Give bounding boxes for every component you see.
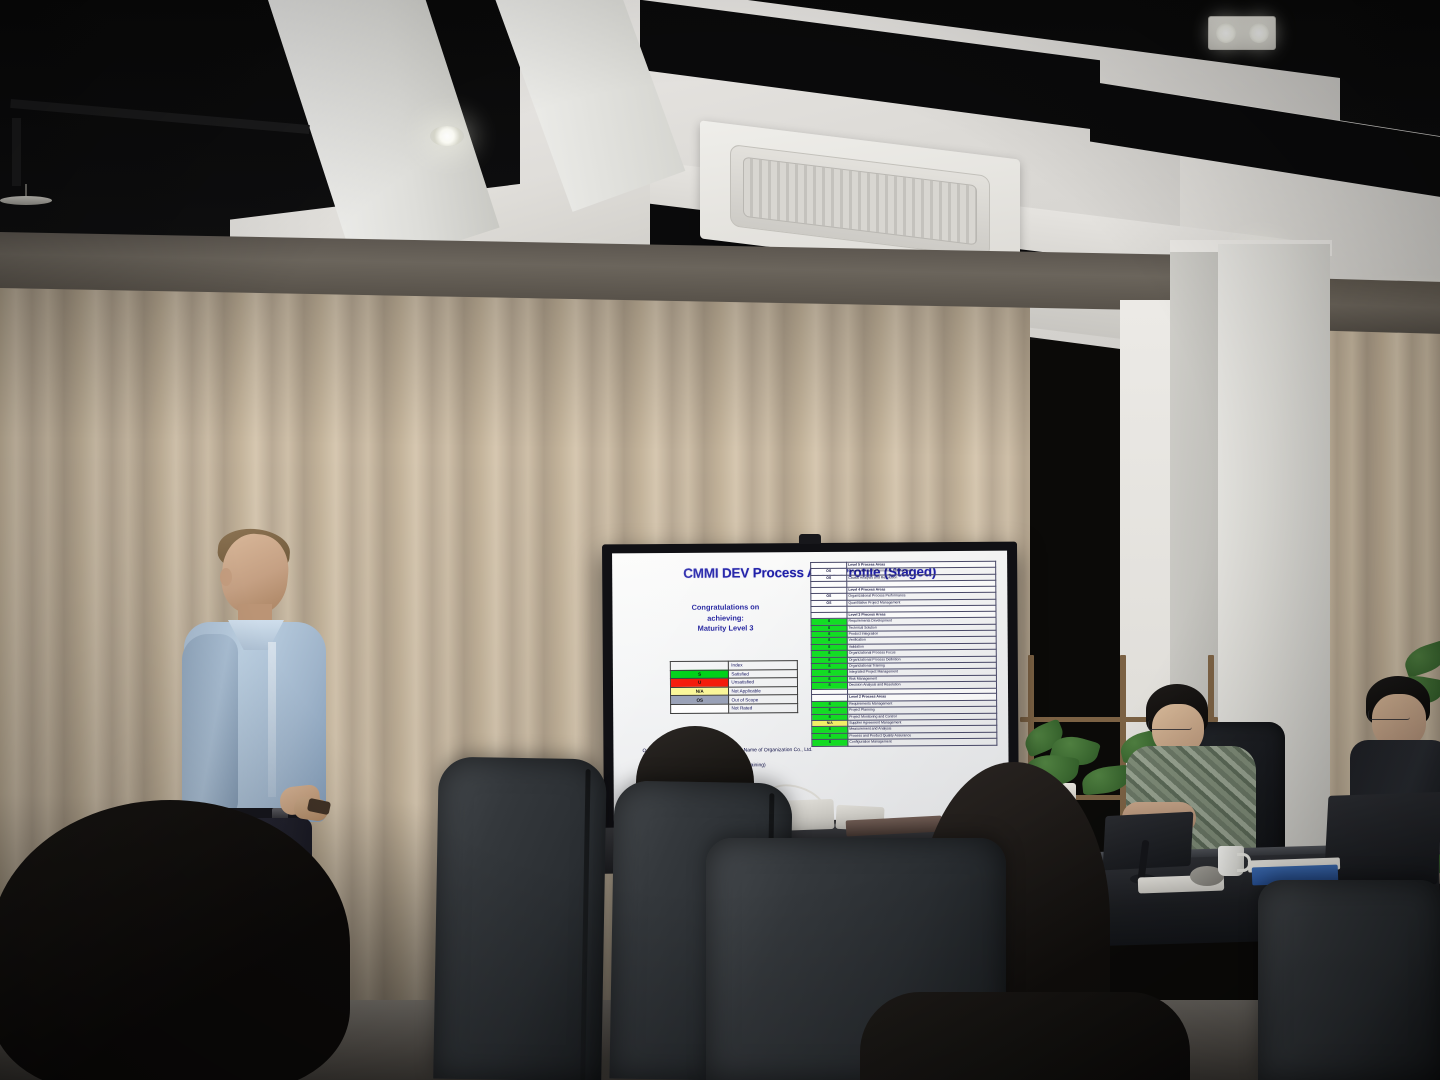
spotlight-lamp-b — [1249, 23, 1269, 43]
glasses-icon — [1368, 710, 1410, 720]
conference-chair-1[interactable] — [433, 757, 607, 1080]
legend-row-not-rated: Not Rated — [671, 704, 798, 713]
legend-table: Index S Satisfied U Unsatisfied N/A No — [670, 660, 798, 713]
foreground-attendee-head-left — [0, 800, 350, 1080]
ceiling-double-spotlight — [1208, 16, 1276, 50]
ac-inner-panel — [730, 144, 990, 258]
pa-level5-section: Level 5 Process Areas OS Organizational … — [811, 561, 996, 587]
ceiling-pendant-lamp-left — [0, 196, 52, 205]
conference-room-photo: CMMI DEV Process Area Profile (Staged) C… — [0, 0, 1440, 1080]
legend-desc-nr: Not Rated — [729, 704, 798, 713]
presenter-arm — [182, 634, 238, 816]
conference-chair-4[interactable] — [1258, 880, 1440, 1080]
pa-level2-section: Level 2 Process Areas SRequirements Mana… — [812, 694, 997, 747]
pa-level4-section: Level 4 Process Areas OS Organizational … — [811, 586, 996, 612]
ceiling-pipe-vertical — [12, 118, 21, 186]
spotlight-lamp-a — [1216, 23, 1236, 43]
presenter-ear — [220, 568, 232, 586]
coffee-mug[interactable] — [1218, 846, 1244, 876]
chair-seam — [580, 769, 590, 1080]
pa-mark: S — [812, 739, 848, 746]
webcam-icon — [798, 534, 820, 544]
glasses-icon — [1148, 720, 1192, 730]
laptop-right[interactable] — [1324, 792, 1440, 888]
pa-name: Configuration Management — [848, 738, 997, 745]
pa-level3-section: Level 3 Process Areas SRequirements Deve… — [811, 611, 997, 695]
pa-row: SConfiguration Management — [812, 738, 997, 746]
ac-grille — [743, 157, 977, 246]
congratulations-line-3: Maturity Level 3 — [652, 624, 800, 636]
ceiling-downlight-1 — [430, 126, 464, 146]
congratulations-text: Congratulations on achieving: Maturity L… — [651, 602, 799, 635]
legend-code-nr — [671, 704, 729, 713]
presenter-shirt-placket — [268, 642, 276, 797]
foreground-attendee-shoulders — [860, 992, 1190, 1080]
process-area-profile-table: Level 5 Process Areas OS Organizational … — [810, 561, 997, 747]
